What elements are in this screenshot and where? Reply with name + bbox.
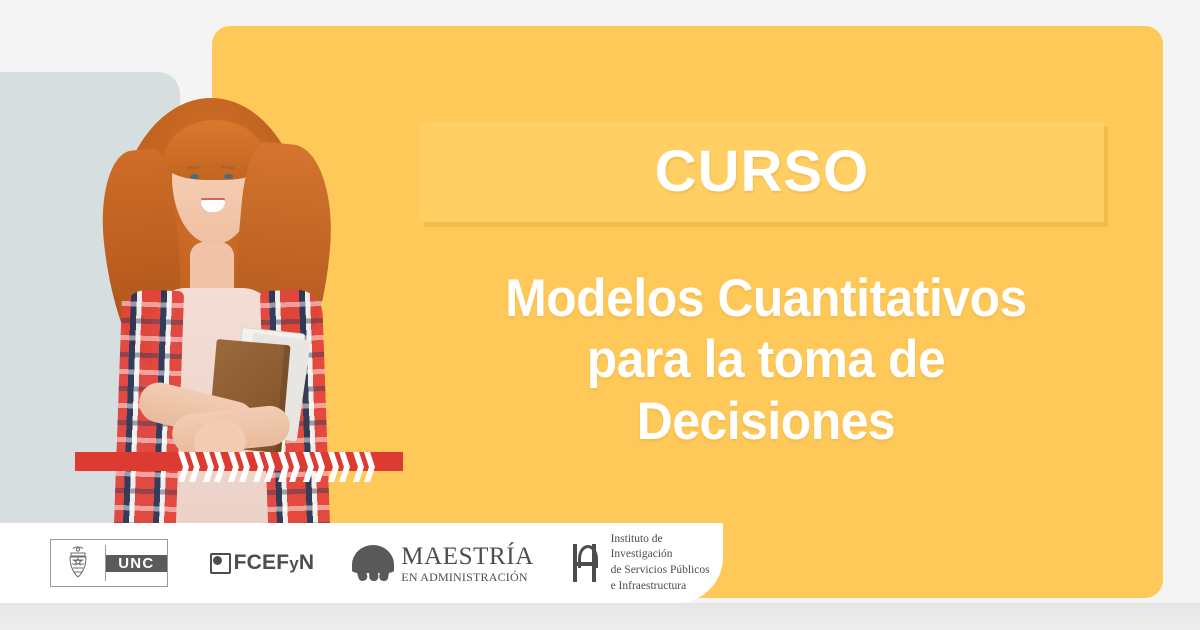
chevron-arrow	[289, 452, 300, 482]
maestria-hand-icon	[352, 545, 394, 581]
chevron-arrow	[303, 452, 314, 482]
title-line-2: para la toma de	[450, 329, 1082, 390]
instituto-wordmark: Instituto de Investigación de Servicios …	[611, 532, 723, 594]
chevron-arrow	[178, 452, 189, 482]
fcefyn-text-sub: y	[289, 554, 299, 573]
chevron-arrow	[353, 452, 364, 482]
chevron-arrow	[189, 452, 200, 482]
bottom-gray-strip	[0, 603, 1200, 630]
unc-wordmark: UNC	[106, 555, 167, 572]
fcefyn-mark-icon	[210, 553, 231, 574]
instituto-line-3: e Infraestructura	[611, 579, 723, 595]
chevron-arrow-group	[178, 452, 378, 482]
chevron-arrow	[314, 452, 325, 482]
logo-maestria: MAESTRÍA EN ADMINISTRACIÓN	[352, 544, 534, 583]
unc-crest-icon	[51, 545, 106, 581]
chevron-arrow	[253, 452, 264, 482]
logo-instituto: Instituto de Investigación de Servicios …	[570, 532, 723, 594]
eye-right	[224, 174, 233, 179]
logo-fcefyn: FCEFyN	[210, 551, 315, 575]
maestria-line-1: MAESTRÍA	[401, 544, 534, 569]
chevron-arrow	[239, 452, 250, 482]
logo-unc: UNC	[50, 539, 168, 587]
ish-monogram-icon	[570, 542, 603, 584]
chevron-arrow	[214, 452, 225, 482]
eye-left	[190, 174, 199, 179]
chevron-arrow	[364, 452, 375, 482]
chevron-arrow	[203, 452, 214, 482]
page-title: Modelos Cuantitativos para la toma de De…	[450, 268, 1082, 452]
maestria-wordmark: MAESTRÍA EN ADMINISTRACIÓN	[401, 544, 534, 583]
logo-footer: UNC FCEFyN MAESTRÍA EN ADMINISTRACIÓN	[0, 523, 723, 603]
curso-banner: CURSO	[420, 122, 1104, 222]
maestria-line-2: EN ADMINISTRACIÓN	[401, 571, 534, 583]
maestria-finger-2	[369, 563, 379, 582]
fcefyn-text-tail: N	[299, 551, 314, 574]
maestria-finger-3	[379, 562, 391, 581]
chevron-arrow	[328, 452, 339, 482]
chevron-arrow	[339, 452, 350, 482]
promo-card: CURSO Modelos Cuantitativos para la toma…	[0, 0, 1200, 630]
logo-strip: UNC FCEFyN MAESTRÍA EN ADMINISTRACIÓN	[0, 532, 723, 594]
curso-label: CURSO	[655, 143, 869, 201]
chevron-arrow	[264, 452, 275, 482]
fcefyn-text-main: FCEF	[234, 551, 290, 574]
instituto-line-1: Instituto de Investigación	[611, 532, 723, 563]
shield-crest-icon	[65, 545, 91, 581]
instituto-line-2: de Servicios Públicos	[611, 563, 723, 579]
fcefyn-wordmark: FCEFyN	[234, 551, 315, 575]
title-line-3: Decisiones	[450, 391, 1082, 452]
chevron-arrow	[278, 452, 289, 482]
title-line-1: Modelos Cuantitativos	[450, 268, 1082, 329]
ish-curve	[578, 545, 598, 568]
chevron-arrow	[228, 452, 239, 482]
